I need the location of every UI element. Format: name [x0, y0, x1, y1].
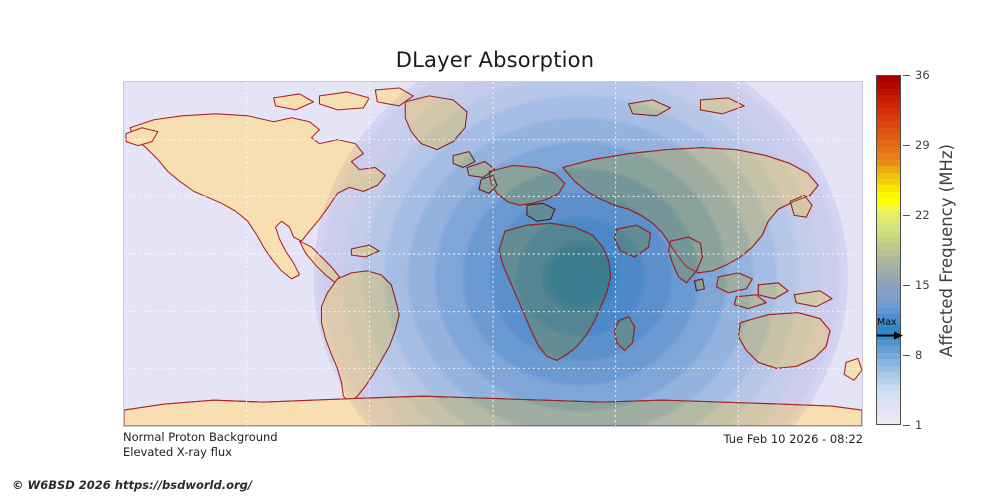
tick-dash-icon [903, 215, 910, 216]
tick-dash-icon [903, 355, 910, 356]
page-title: DLayer Absorption [0, 48, 990, 72]
tick-dash-icon [903, 425, 910, 426]
colorbar-tick-label: 8 [915, 348, 922, 362]
colorbar-band-53 [877, 417, 900, 423]
colorbar-tick-label: 36 [915, 68, 930, 82]
tick-dash-icon [903, 75, 910, 76]
colorbar[interactable] [876, 75, 901, 425]
world-map-svg [124, 82, 862, 426]
map-canvas [124, 82, 862, 426]
xray-flux-status: Elevated X-ray flux [123, 445, 278, 460]
proton-background-status: Normal Proton Background [123, 430, 278, 445]
absorption-map[interactable] [123, 81, 863, 427]
colorbar-axis-label: Affected Frequency (MHz) [933, 75, 959, 425]
colorbar-tick-label: 15 [915, 278, 930, 292]
copyright-notice: © W6BSD 2026 https://bsdworld.org/ [12, 478, 252, 492]
colorbar-tick-label: 29 [915, 138, 930, 152]
colorbar-tick-label: 22 [915, 208, 930, 222]
timestamp-label: Tue Feb 10 2026 - 08:22 [560, 432, 863, 446]
status-notes: Normal Proton Background Elevated X-ray … [123, 430, 278, 459]
colorbar-tick-label: 1 [915, 418, 922, 432]
colorbar-swatches [877, 76, 900, 424]
colorbar-axis-label-text: Affected Frequency (MHz) [937, 144, 956, 357]
tick-dash-icon [903, 285, 910, 286]
tick-dash-icon [903, 145, 910, 146]
